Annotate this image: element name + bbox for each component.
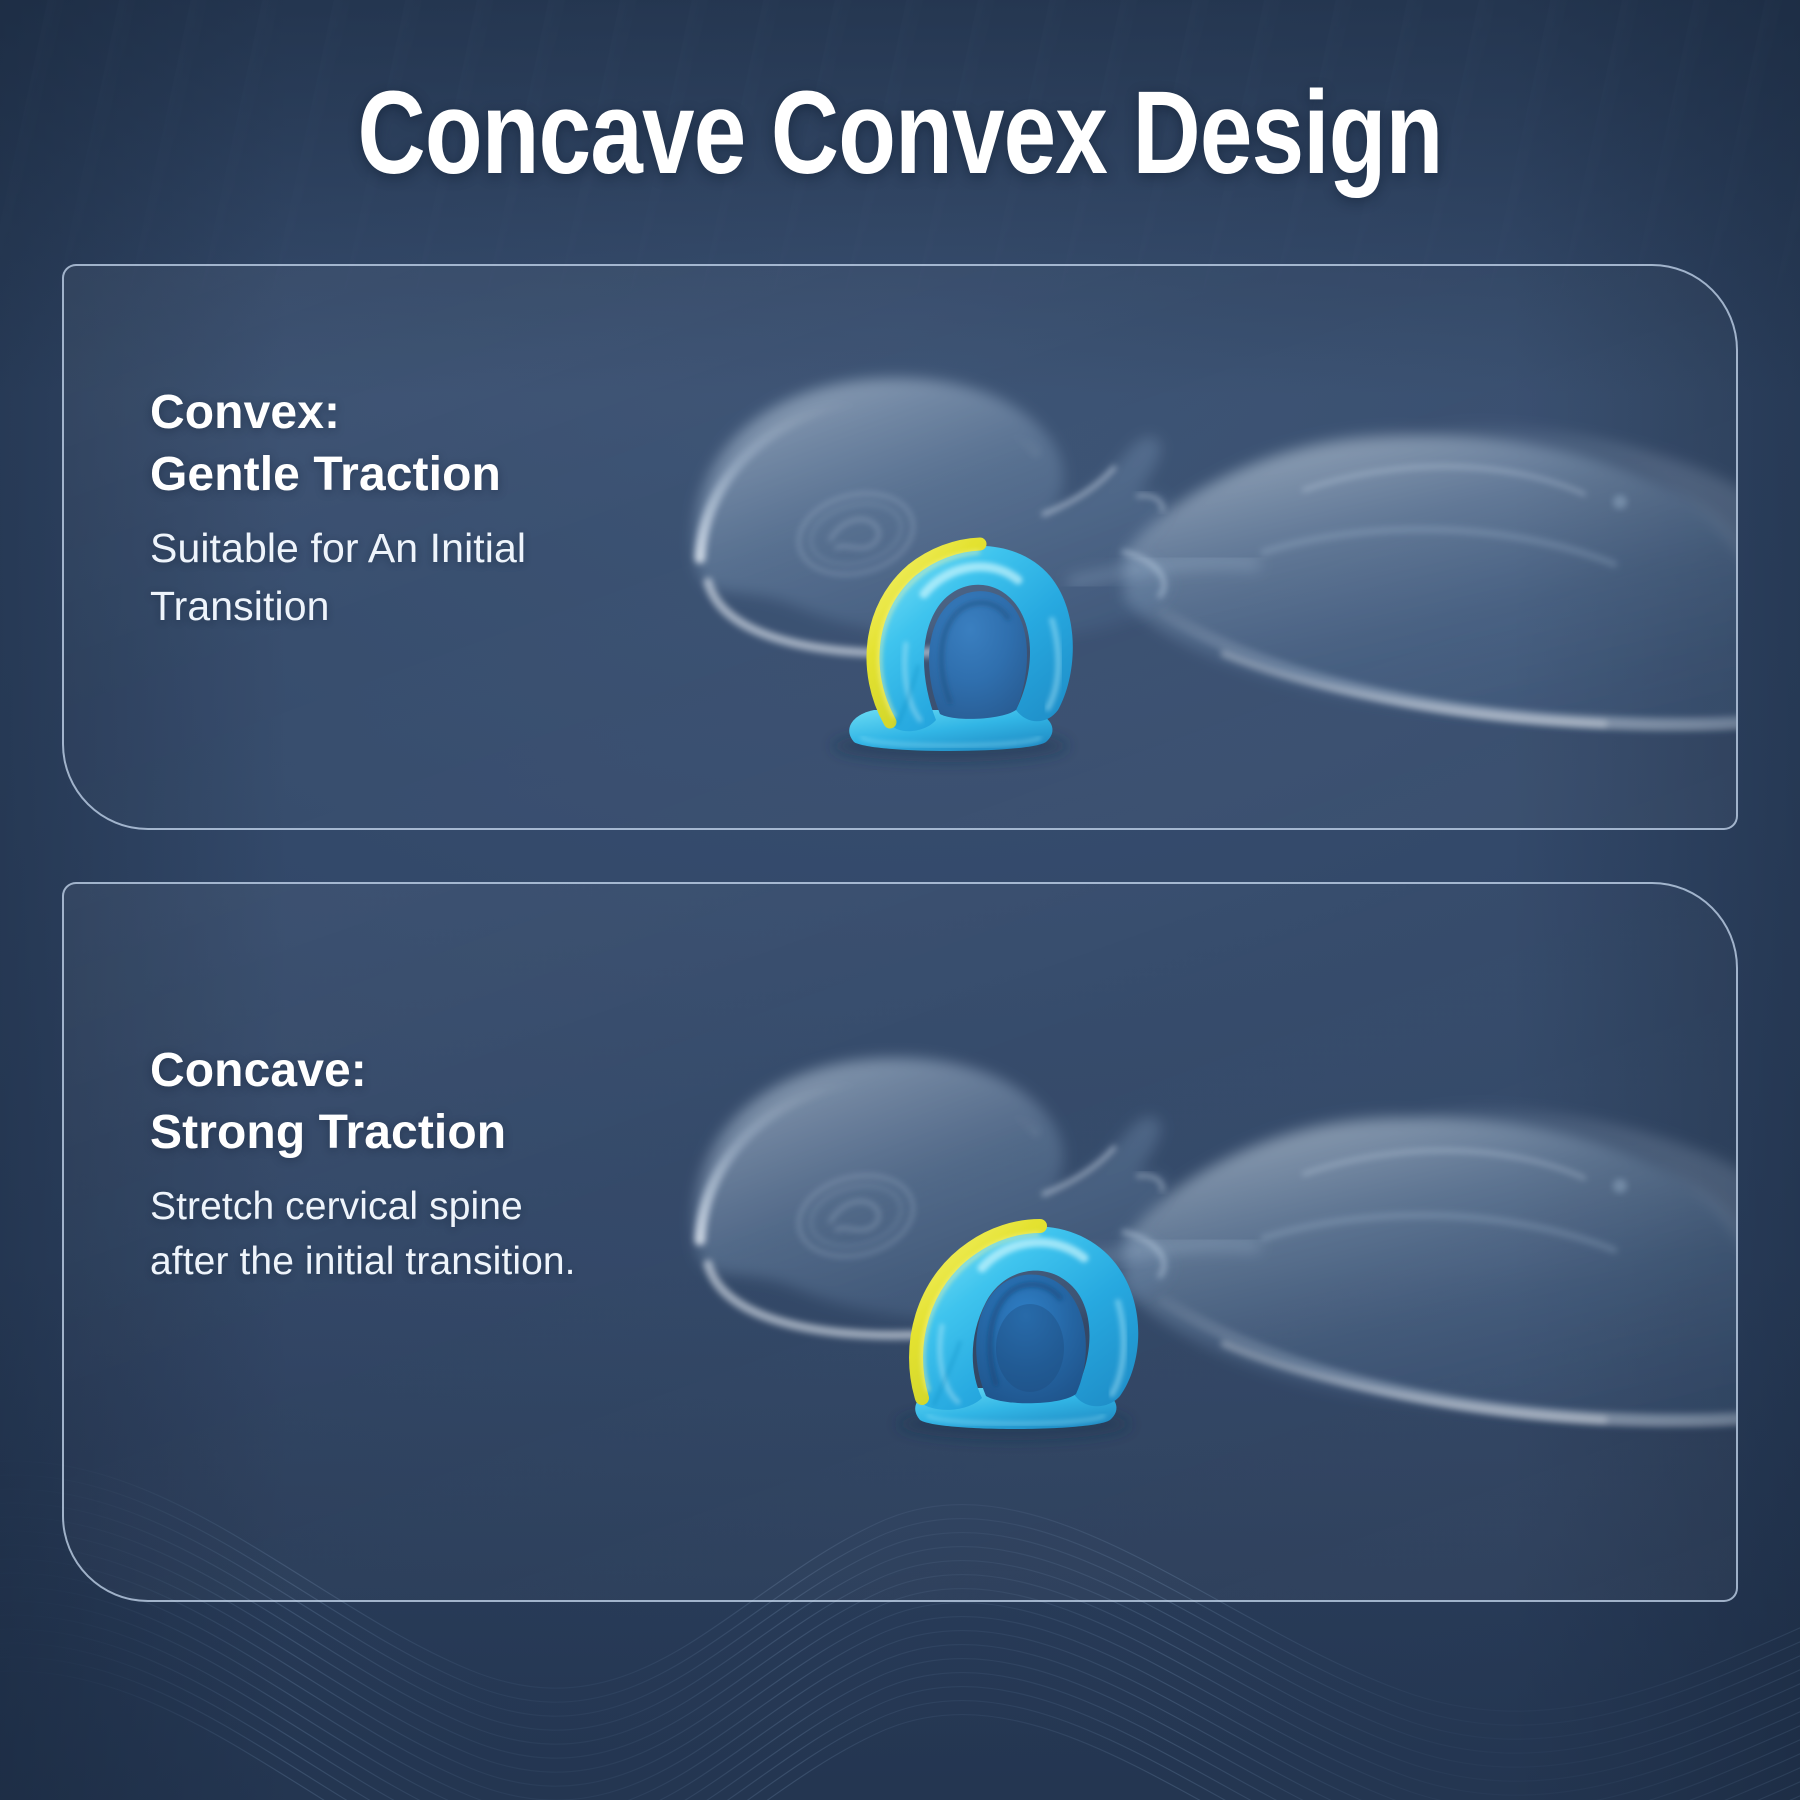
subtitle-concave-line1: Stretch cervical spine xyxy=(150,1179,576,1234)
panel-convex: Convex: Gentle Traction Suitable for An … xyxy=(62,264,1738,830)
panel-concave: Concave: Strong Traction Stretch cervica… xyxy=(62,882,1738,1602)
heading-convex-line2: Gentle Traction xyxy=(150,444,526,506)
heading-concave-line2: Strong Traction xyxy=(150,1102,576,1164)
heading-convex-line1: Convex: xyxy=(150,382,526,444)
neck-traction-device-concave-side xyxy=(864,1198,1164,1448)
neck-traction-device-convex-side xyxy=(802,524,1102,770)
reclining-person-illustration xyxy=(604,918,1738,1558)
subtitle-concave-line2: after the initial transition. xyxy=(150,1234,576,1289)
text-block-concave: Concave: Strong Traction Stretch cervica… xyxy=(150,1040,576,1290)
page-title: Concave Convex Design xyxy=(180,72,1620,195)
subtitle-convex-line2: Transition xyxy=(150,577,526,635)
text-block-convex: Convex: Gentle Traction Suitable for An … xyxy=(150,382,526,635)
reclining-person-illustration xyxy=(604,264,1738,830)
heading-concave-line1: Concave: xyxy=(150,1040,576,1102)
subtitle-convex-line1: Suitable for An Initial xyxy=(150,519,526,577)
